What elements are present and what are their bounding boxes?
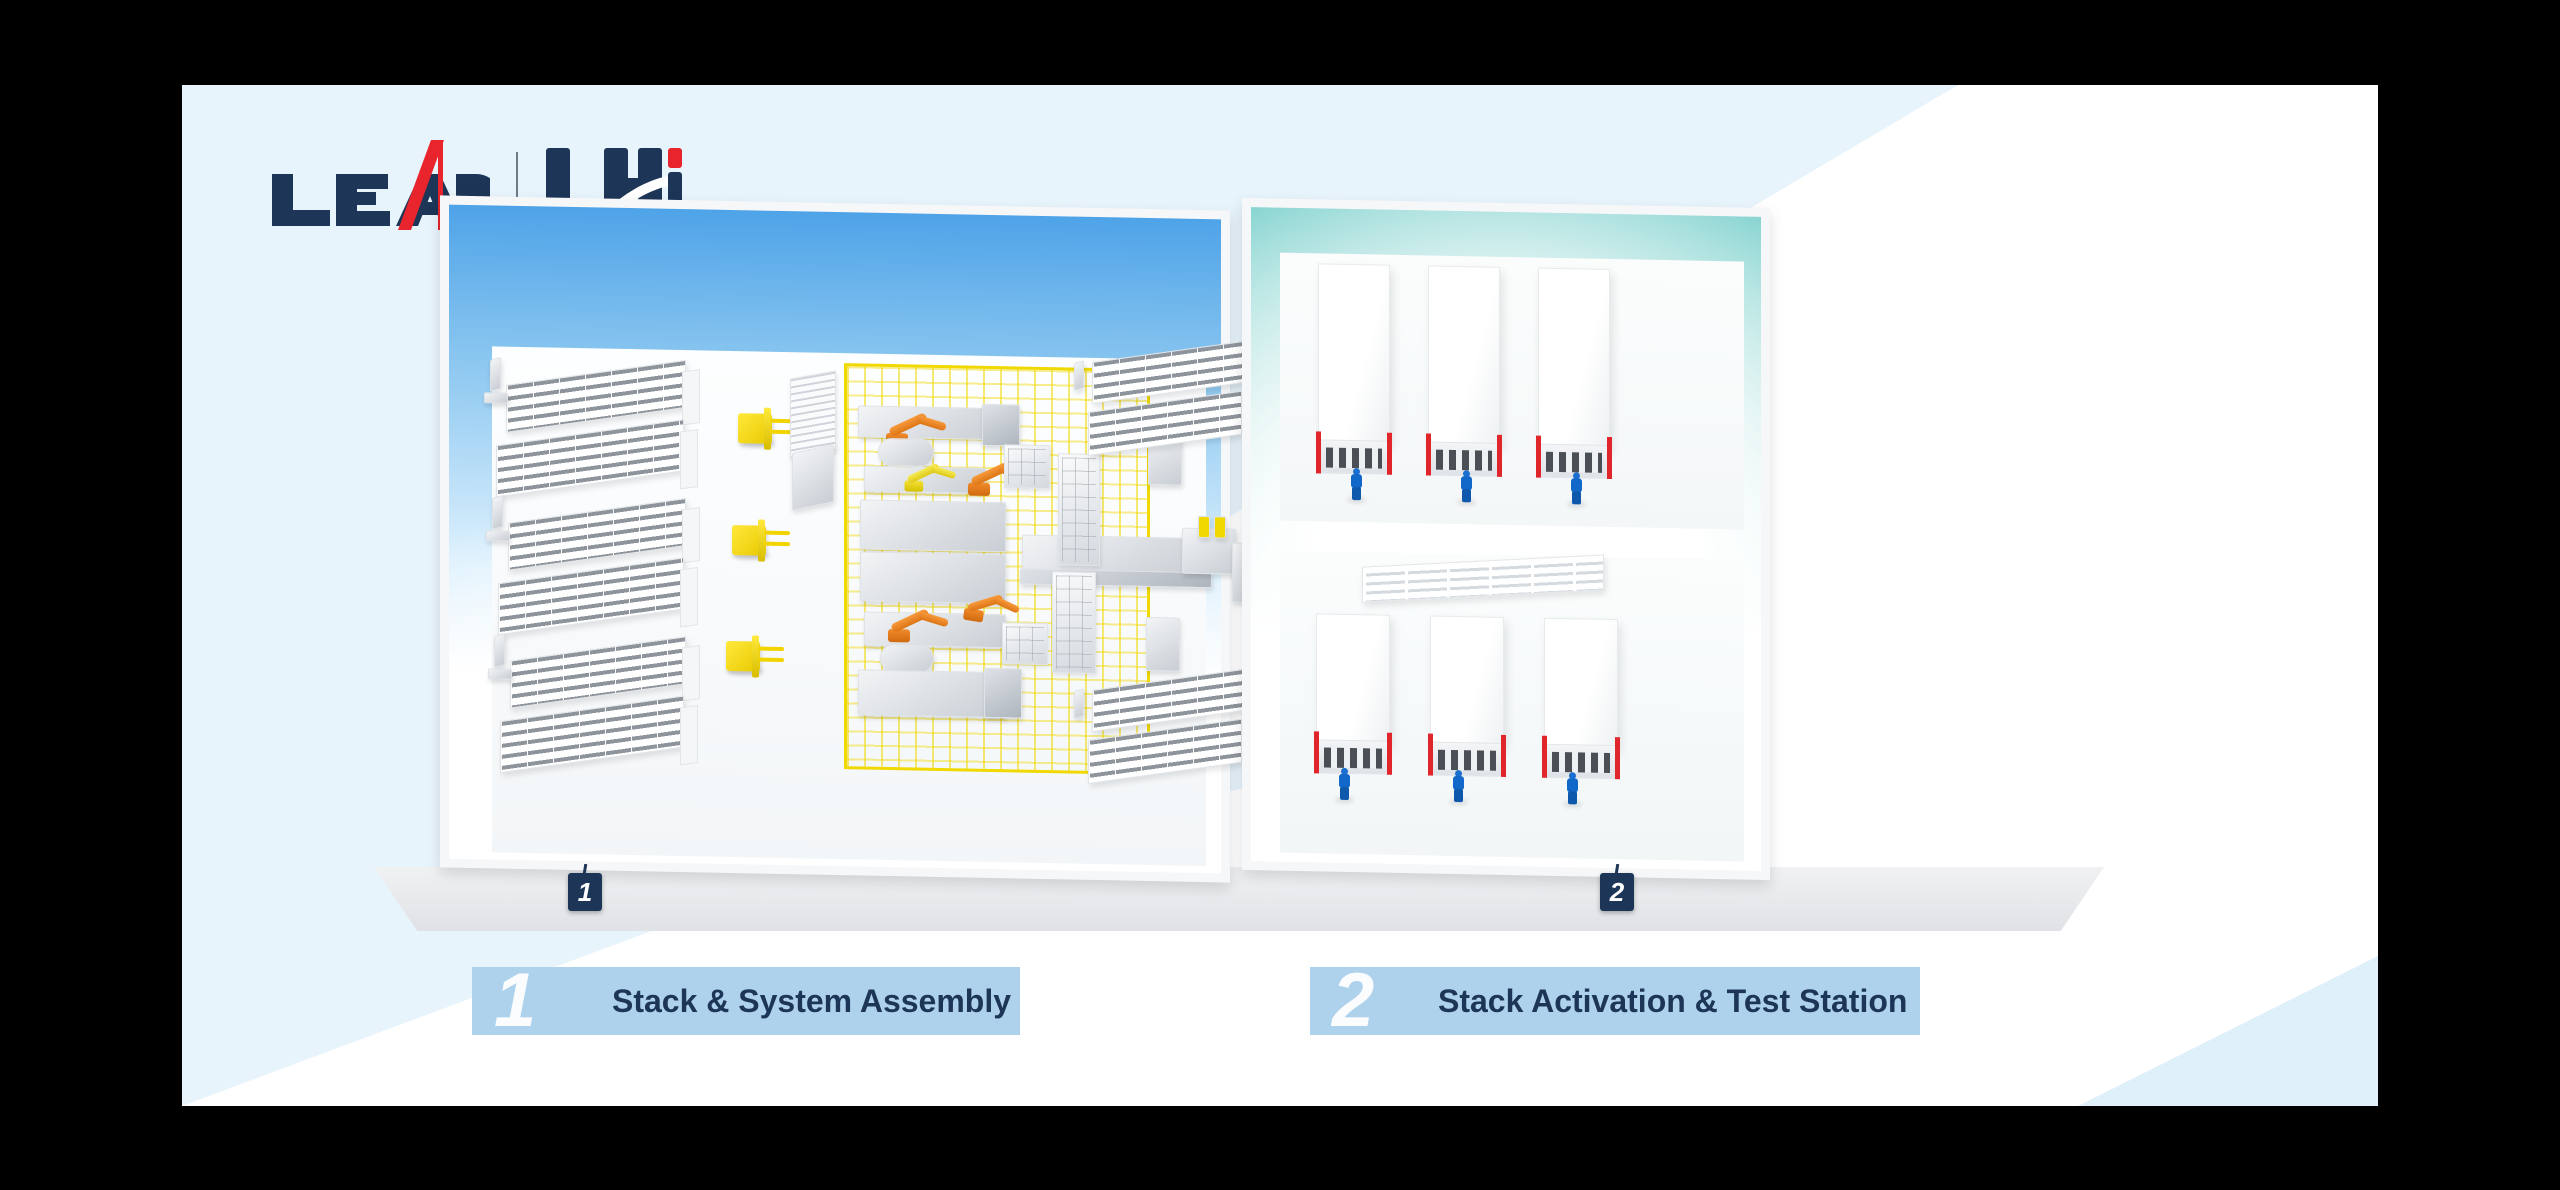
- storage-rack-end-cap: [682, 507, 700, 564]
- map-badge-2[interactable]: 2: [1600, 873, 1634, 911]
- test-chamber: [1544, 618, 1618, 779]
- operator-figure: [1460, 470, 1473, 502]
- storage-rack-end-cap: [682, 645, 700, 702]
- caption-2-number: 2: [1332, 967, 1374, 1035]
- zone-1-stack-system-assembly[interactable]: [440, 195, 1230, 882]
- test-chamber: [1318, 263, 1390, 474]
- rack-picker-arm: [1074, 360, 1084, 391]
- rack-picker-arm: [1074, 688, 1084, 719]
- rack-picker-arm: [494, 633, 505, 668]
- factory-floorplan-3d: 1 2: [282, 195, 2182, 955]
- operator-figure: [1570, 472, 1583, 504]
- pallet-buffer: [1002, 622, 1048, 665]
- storage-rack: [500, 696, 684, 774]
- pallet-buffer: [1004, 444, 1050, 489]
- storage-rack: [498, 557, 684, 635]
- line-end-module: [1000, 500, 1002, 502]
- caption-1-label: Stack & System Assembly: [612, 983, 1011, 1020]
- operator-figure: [1566, 772, 1579, 804]
- storage-rack: [496, 419, 684, 497]
- rack-picker-base: [488, 668, 512, 679]
- pallet-buffer: [1058, 453, 1100, 566]
- robot-arm: [905, 459, 956, 492]
- main-line-module: [860, 499, 1006, 552]
- rack-picker-arm: [490, 357, 501, 392]
- rack-picker-base: [486, 530, 510, 541]
- caption-1-number: 1: [494, 967, 536, 1035]
- background-wedge-bottom-right: [2078, 956, 2378, 1106]
- map-badge-1-number: 1: [578, 879, 592, 905]
- pallet-buffer: [1052, 571, 1096, 674]
- test-chamber: [1316, 613, 1390, 774]
- zone-2-stack-activation-test-station[interactable]: [1242, 198, 1770, 880]
- operator-figure: [1350, 468, 1363, 500]
- platform-structure: [792, 444, 834, 511]
- floorplan-base-plinth: [374, 867, 2104, 931]
- agv-cart: [1146, 617, 1180, 672]
- gantry-post: [1198, 516, 1210, 538]
- operator-figure: [1338, 768, 1351, 800]
- test-chamber: [1430, 616, 1504, 777]
- robot-arm: [888, 602, 950, 643]
- assembly-cell-module: [984, 668, 1022, 719]
- assembly-cell-module: [982, 404, 1020, 447]
- shelf-bank: [1362, 554, 1604, 602]
- slide-canvas: 1 2 1 Stack & System Assembly 2 Stack Ac…: [182, 85, 2378, 1106]
- gantry-post: [1214, 516, 1226, 538]
- map-badge-2-number: 2: [1610, 879, 1624, 905]
- zone-2-upper-floor: [1280, 253, 1744, 530]
- rack-picker-arm: [492, 495, 503, 530]
- test-chamber: [1428, 266, 1500, 477]
- map-badge-1[interactable]: 1: [568, 873, 602, 911]
- caption-bar-2[interactable]: 2 Stack Activation & Test Station: [1310, 967, 1920, 1035]
- caption-2-label: Stack Activation & Test Station: [1438, 983, 1907, 1020]
- operator-figure: [1452, 770, 1465, 802]
- caption-bar-1[interactable]: 1 Stack & System Assembly: [472, 967, 1020, 1035]
- test-chamber: [1538, 268, 1610, 479]
- storage-rack-end-cap: [680, 567, 698, 628]
- storage-rack-end-cap: [680, 705, 698, 766]
- storage-rack-end-cap: [682, 369, 700, 426]
- storage-rack-end-cap: [680, 429, 698, 490]
- turntable: [880, 644, 934, 673]
- zone-2-lower-floor: [1280, 551, 1744, 862]
- rack-picker-base: [484, 392, 508, 403]
- zone-1-floor: [492, 346, 1206, 866]
